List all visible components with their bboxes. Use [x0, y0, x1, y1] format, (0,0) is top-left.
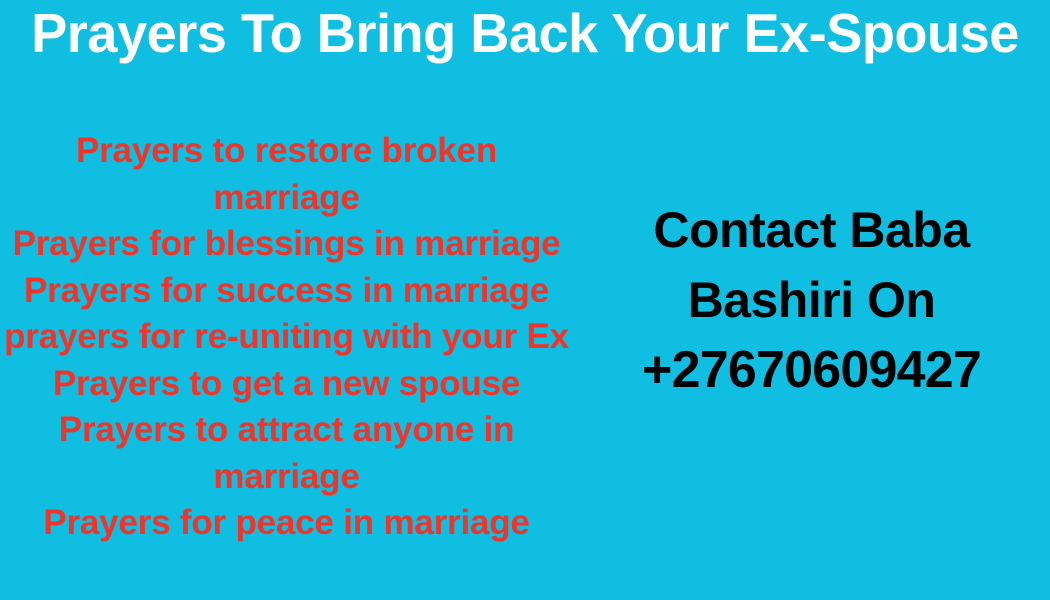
prayer-list-item: Prayers to restore broken marriage — [0, 128, 573, 221]
prayer-list-item: Prayers to get a new spouse — [0, 361, 573, 408]
contact-heading-line-2: Bashiri On — [688, 265, 936, 335]
prayer-list-item: Prayers for success in marriage — [0, 268, 573, 315]
prayer-list-item-wrap: marriage — [0, 454, 573, 501]
page-title: Prayers To Bring Back Your Ex-Spouse — [8, 0, 1042, 66]
contact-heading-line-1: Contact Baba — [653, 195, 969, 265]
poster-body: Prayers to restore broken marriage Praye… — [0, 66, 1050, 600]
poster-canvas: Prayers To Bring Back Your Ex-Spouse Pra… — [0, 0, 1050, 600]
prayer-list: Prayers to restore broken marriage Praye… — [0, 128, 573, 547]
prayer-list-item: prayers for re-uniting with your Ex — [0, 314, 573, 361]
prayer-list-item: Prayers for peace in marriage — [0, 500, 573, 547]
prayer-list-item: Prayers to attract anyone in — [0, 407, 573, 454]
contact-phone-number[interactable]: +27670609427 — [642, 335, 981, 405]
contact-block: Contact Baba Bashiri On +27670609427 — [573, 66, 1050, 600]
prayer-list-item: Prayers for blessings in marriage — [0, 221, 573, 268]
